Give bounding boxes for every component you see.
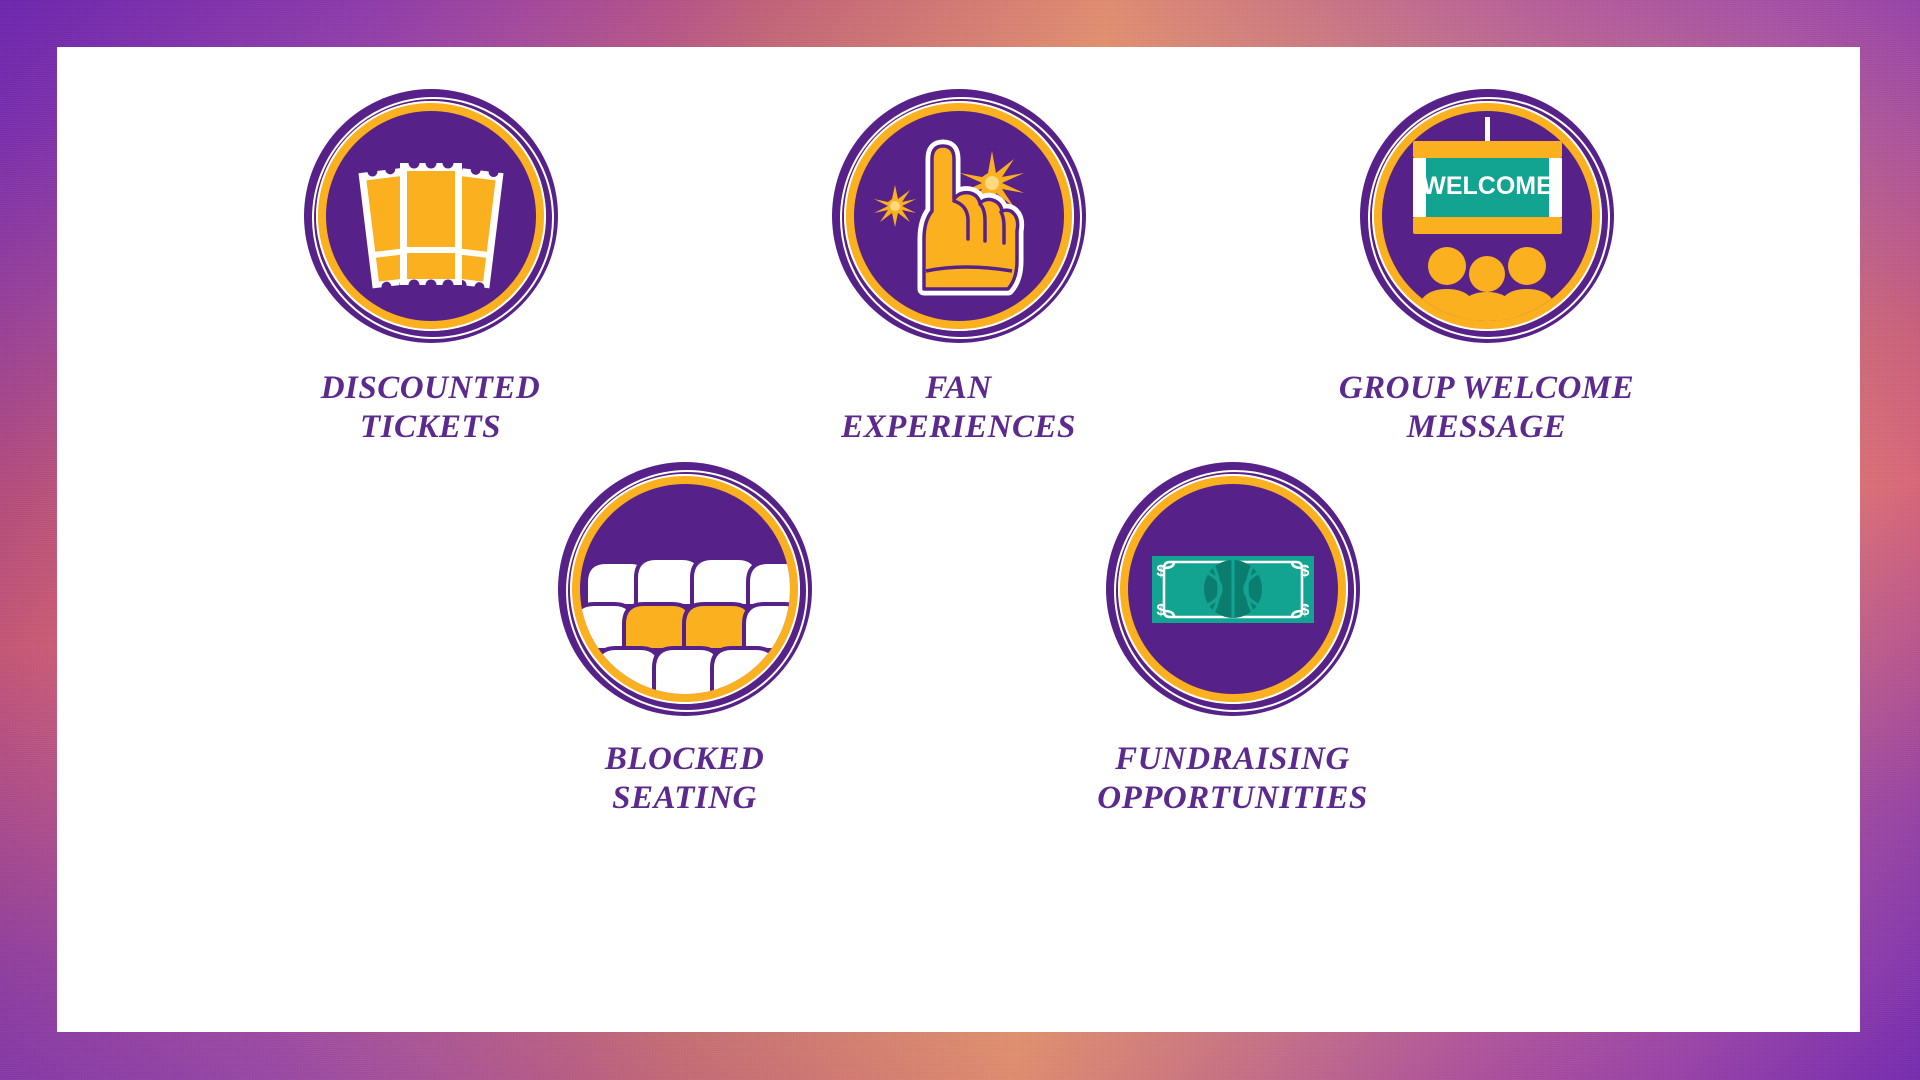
dollar-sign-icon: $ — [1300, 602, 1309, 619]
foam-finger-icon — [854, 111, 1064, 321]
stadium-seats-icon — [580, 484, 790, 694]
tickets-icon — [326, 111, 536, 321]
benefit-label: GROUP WELCOME MESSAGE — [1339, 369, 1634, 446]
benefit-item-group-welcome-message[interactable]: WELCOME GROU — [1237, 89, 1737, 446]
welcome-text: WELCOME — [1422, 172, 1553, 200]
benefit-label: FUNDRAISING OPPORTUNITIES — [1097, 740, 1368, 817]
banner-cord — [1485, 117, 1490, 143]
benefit-item-fan-experiences[interactable]: FAN EXPERIENCES — [709, 89, 1209, 446]
badge-discounted-tickets — [304, 89, 558, 343]
badge-blocked-seating — [558, 462, 812, 716]
slide-background: DISCOUNTED TICKETS — [0, 0, 1920, 1080]
sparkle-icon — [874, 185, 916, 227]
benefits-row-top: DISCOUNTED TICKETS — [57, 89, 1860, 446]
welcome-scoreboard-icon: WELCOME — [1382, 111, 1592, 321]
basketball-icon — [1204, 560, 1262, 618]
badge-inner-disc — [580, 484, 790, 694]
badge-fan-experiences — [832, 89, 1086, 343]
content-card: DISCOUNTED TICKETS — [57, 47, 1860, 1032]
benefit-item-discounted-tickets[interactable]: DISCOUNTED TICKETS — [181, 89, 681, 446]
benefit-label: DISCOUNTED TICKETS — [321, 369, 541, 446]
badge-inner-disc — [854, 111, 1064, 321]
benefit-item-fundraising-opportunities[interactable]: $ $ $ $ — [983, 462, 1483, 817]
dollar-sign-icon: $ — [1300, 563, 1309, 580]
badge-fundraising-opportunities: $ $ $ $ — [1106, 462, 1360, 716]
badge-inner-disc — [326, 111, 536, 321]
benefit-label: FAN EXPERIENCES — [841, 369, 1076, 446]
badge-inner-disc: WELCOME — [1382, 111, 1592, 321]
dollar-sign-icon: $ — [1156, 563, 1165, 580]
benefit-label: BLOCKED SEATING — [605, 740, 764, 817]
benefits-row-bottom: BLOCKED SEATING — [57, 462, 1860, 817]
dollar-sign-icon: $ — [1156, 602, 1165, 619]
badge-group-welcome-message: WELCOME — [1360, 89, 1614, 343]
benefit-item-blocked-seating[interactable]: BLOCKED SEATING — [435, 462, 935, 817]
badge-inner-disc: $ $ $ $ — [1128, 484, 1338, 694]
money-basketball-icon: $ $ $ $ — [1128, 484, 1338, 694]
